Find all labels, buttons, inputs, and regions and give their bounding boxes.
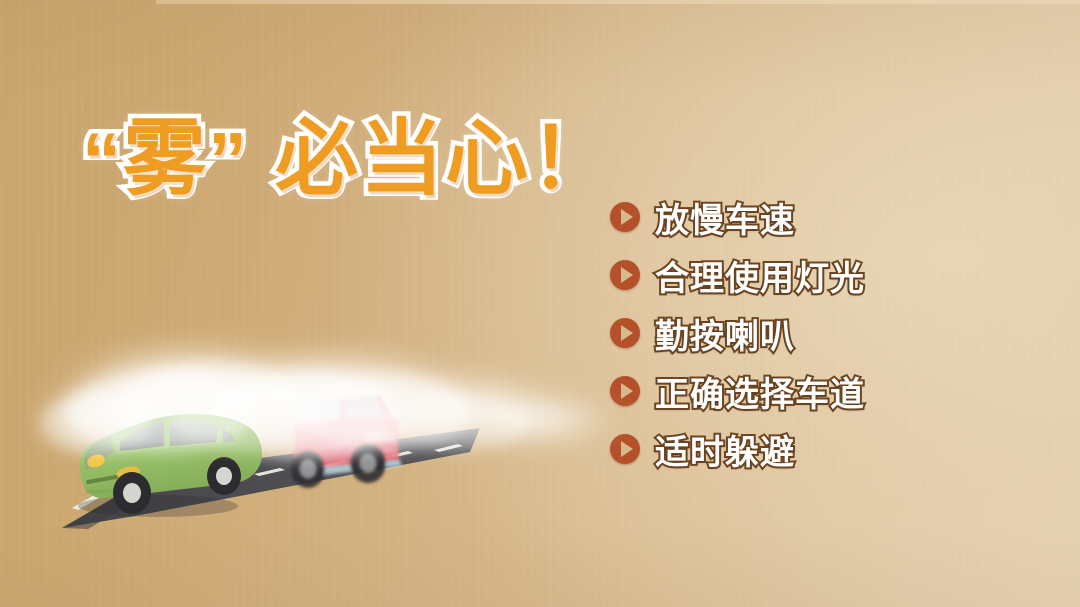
two-cars-in-fog-illustration [40,320,600,565]
title-open-quote: “ [82,116,123,204]
list-item[interactable]: 合理使用灯光 [610,256,865,294]
play-triangle-circle-icon [610,434,640,464]
top-accent-strip [156,0,1080,4]
list-item-label: 放慢车速 [655,193,795,242]
title-keyword: 雾 [123,112,208,205]
play-triangle-circle-icon [610,318,640,348]
safety-tips-list: 放慢车速 合理使用灯光 勤按喇叭 正确选择车道 适时躲避 [610,198,865,468]
slide-canvas: “雾”必当心！ 放慢车速 合理使用灯光 勤按喇叭 正确选择车道 适时躲避 [0,0,1080,607]
title-close-quote: ” [208,116,249,204]
list-item[interactable]: 放慢车速 [610,198,865,236]
play-triangle-circle-icon [610,376,640,406]
play-triangle-circle-icon [610,260,640,290]
list-item-label: 适时躲避 [655,425,795,474]
play-triangle-circle-icon [610,202,640,232]
page-title: “雾”必当心！ [82,116,615,202]
list-item-label: 勤按喇叭 [655,309,795,358]
list-item[interactable]: 正确选择车道 [610,372,865,410]
list-item-label: 正确选择车道 [655,367,865,416]
list-item[interactable]: 适时躲避 [610,430,865,468]
list-item-label: 合理使用灯光 [655,251,865,300]
title-rest: 必当心！ [275,112,615,205]
list-item[interactable]: 勤按喇叭 [610,314,865,352]
